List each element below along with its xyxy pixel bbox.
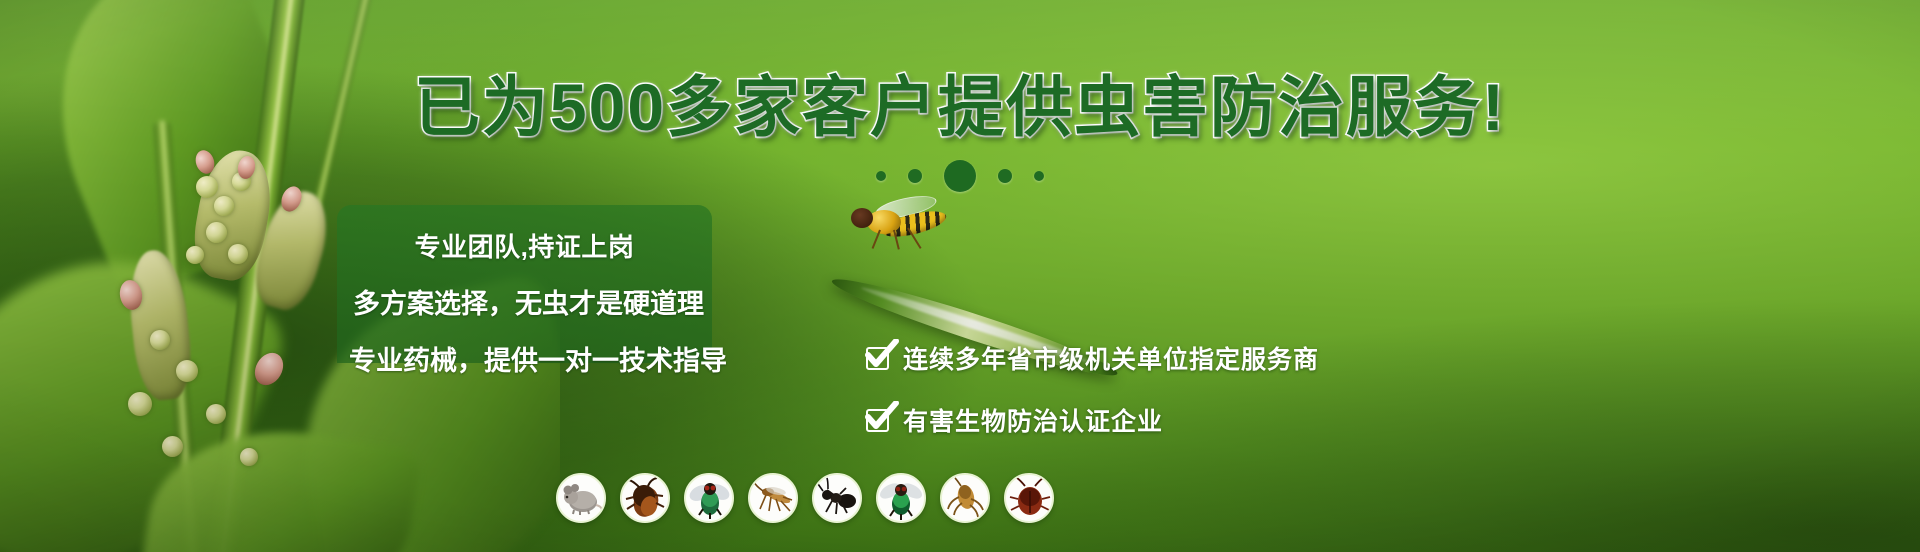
pest-control-hero-banner: 已为500多家客户提供虫害防治服务! 专业团队,持证上岗 多方案选择，无虫才是硬… (0, 0, 1920, 552)
credential-item: 有害生物防治认证企业 (866, 402, 1319, 438)
dot-small (876, 171, 886, 181)
slogan-panel: 专业团队,持证上岗 多方案选择，无虫才是硬道理 专业药械，提供一对一技术指导 (337, 205, 712, 363)
dot-large (944, 160, 976, 192)
green-fly-icon[interactable] (876, 473, 926, 523)
credential-text: 连续多年省市级机关单位指定服务商 (903, 340, 1319, 376)
dot-medium (998, 169, 1012, 183)
flea-icon[interactable] (940, 473, 990, 523)
slogan-line-1: 专业团队,持证上岗 (337, 227, 712, 264)
slogan-line-3: 专业药械，提供一对一技术指导 (349, 339, 712, 378)
page-title: 已为500多家客户提供虫害防治服务! (0, 74, 1920, 140)
page-title-text: 已为500多家客户提供虫害防治服务! (414, 74, 1506, 140)
decorative-dot-row (0, 160, 1920, 192)
checkbox-checked-icon (866, 347, 889, 370)
cockroach-icon[interactable] (620, 473, 670, 523)
dot-medium (908, 169, 922, 183)
bedbug-icon[interactable] (1004, 473, 1054, 523)
fly-icon[interactable] (684, 473, 734, 523)
slogan-line-2: 多方案选择，无虫才是硬道理 (345, 282, 712, 321)
mosquito-icon[interactable] (748, 473, 798, 523)
pest-icon-strip (556, 473, 1054, 523)
credential-text: 有害生物防治认证企业 (903, 402, 1163, 438)
ant-icon[interactable] (812, 473, 862, 523)
checkbox-checked-icon (866, 409, 889, 432)
dot-small (1034, 171, 1044, 181)
credential-item: 连续多年省市级机关单位指定服务商 (866, 340, 1319, 376)
mouse-icon[interactable] (556, 473, 606, 523)
credentials-list: 连续多年省市级机关单位指定服务商 有害生物防治认证企业 (866, 340, 1319, 464)
